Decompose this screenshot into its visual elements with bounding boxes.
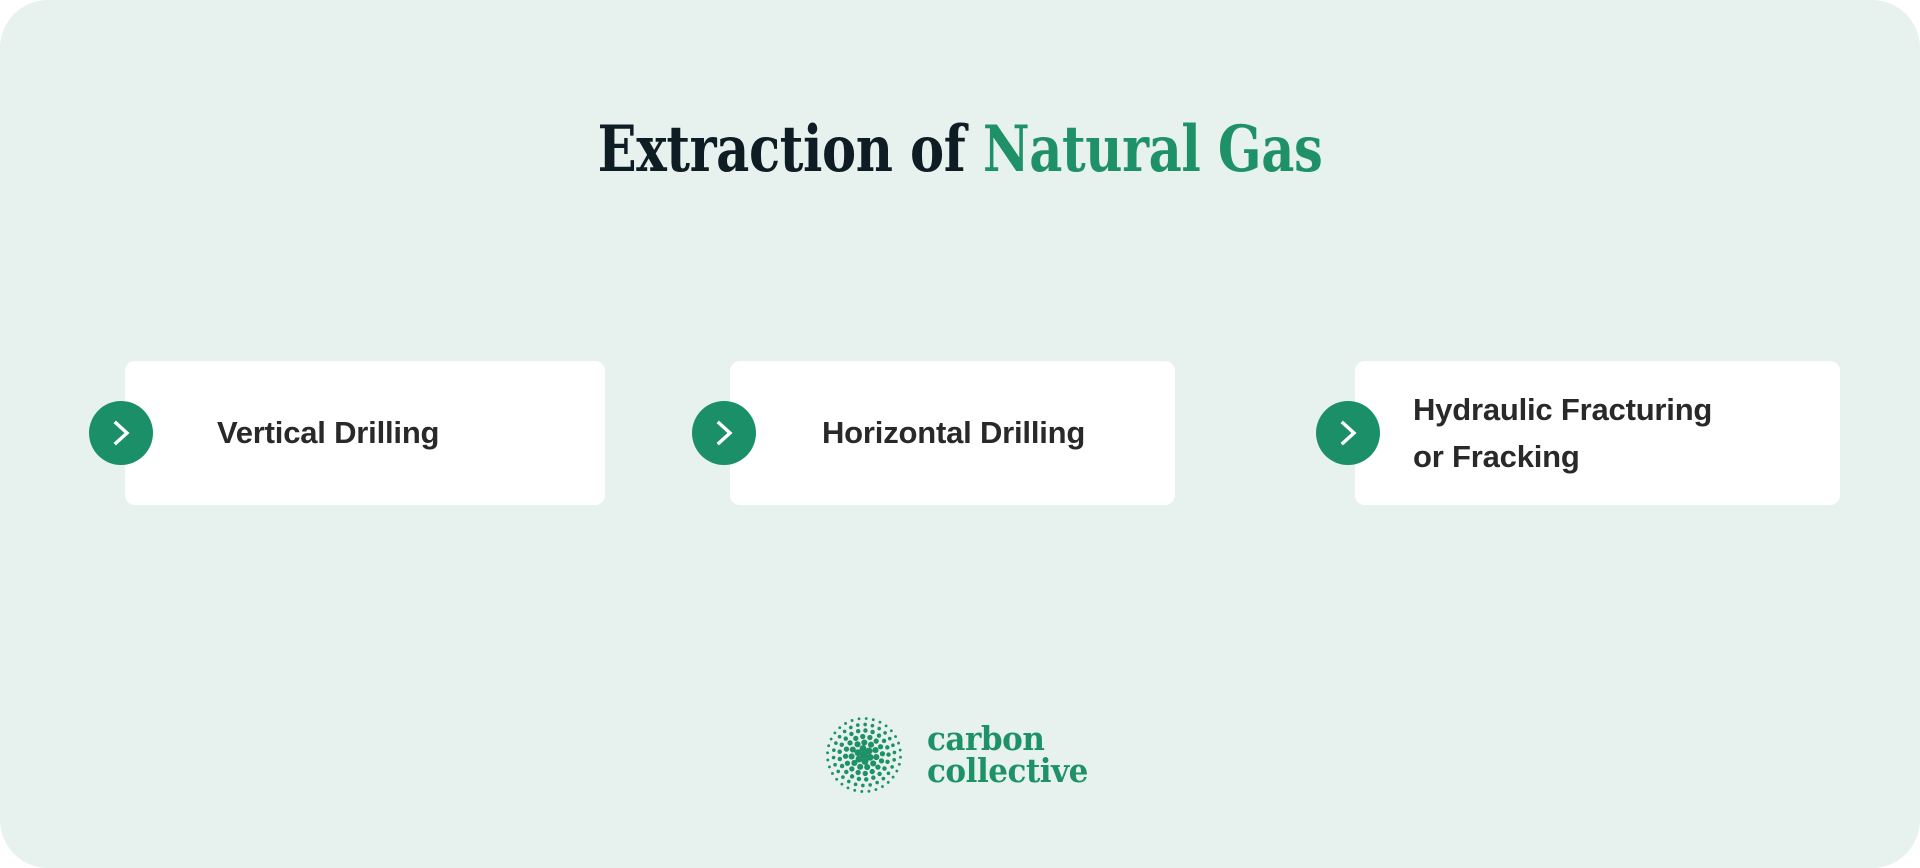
card-label: Hydraulic Fracturingor Fracking bbox=[1355, 386, 1722, 480]
card-label-line-1: Hydraulic Fracturing bbox=[1413, 392, 1712, 427]
card-row: Vertical Drilling Horizontal Drilling Hy… bbox=[0, 361, 1920, 505]
card-label-line-2: or Fracking bbox=[1413, 439, 1580, 474]
infographic-panel: Extraction of Natural Gas Vertical Drill… bbox=[0, 0, 1920, 868]
card-label: Horizontal Drilling bbox=[730, 409, 1103, 456]
page-title: Extraction of Natural Gas bbox=[0, 118, 1920, 182]
card-vertical-drilling[interactable]: Vertical Drilling bbox=[125, 361, 605, 505]
brand-wordmark: carbon collective bbox=[927, 723, 1088, 787]
halftone-dot-circle-icon bbox=[821, 712, 907, 798]
page-title-dark-part: Extraction of bbox=[598, 112, 983, 187]
brand-logo: carbon collective bbox=[0, 712, 1920, 798]
chevron-right-icon[interactable] bbox=[692, 401, 756, 465]
brand-line-2: collective bbox=[927, 755, 1088, 787]
page-title-green-part: Natural Gas bbox=[983, 112, 1323, 187]
card-label: Vertical Drilling bbox=[125, 409, 457, 456]
chevron-right-icon[interactable] bbox=[1316, 401, 1380, 465]
card-hydraulic-fracturing[interactable]: Hydraulic Fracturingor Fracking bbox=[1355, 361, 1840, 505]
chevron-right-icon[interactable] bbox=[89, 401, 153, 465]
card-horizontal-drilling[interactable]: Horizontal Drilling bbox=[730, 361, 1175, 505]
